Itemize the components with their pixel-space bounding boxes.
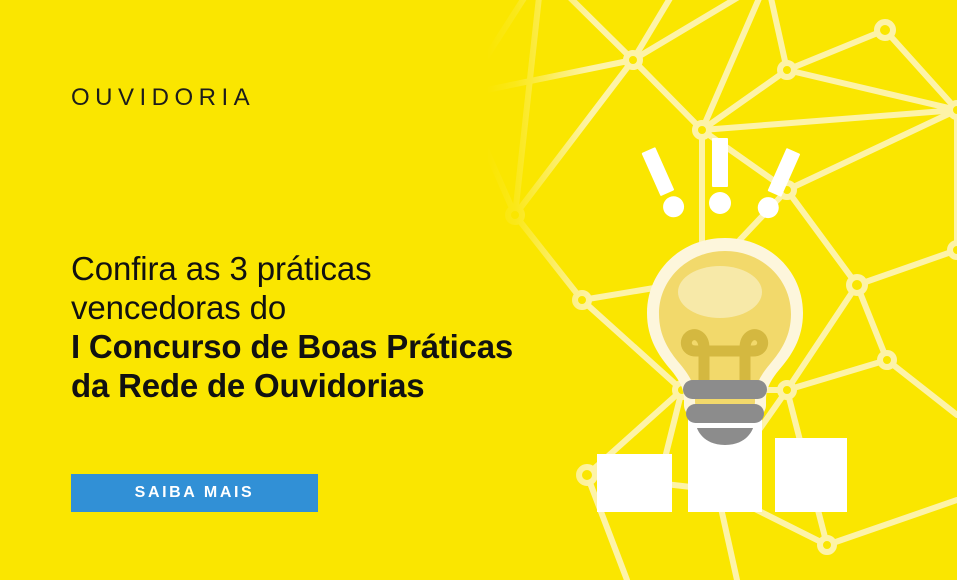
headline-line-3: I Concurso de Boas Práticas	[71, 327, 631, 366]
exclamation-left-icon	[639, 146, 688, 221]
bar-left	[597, 454, 672, 512]
saiba-mais-label: SAIBA MAIS	[135, 484, 255, 502]
headline-line-1: Confira as 3 práticas	[71, 249, 631, 288]
exclamation-marks	[639, 138, 803, 221]
headline-line-4: da Rede de Ouvidorias	[71, 366, 631, 405]
headline-block: Confira as 3 práticas vencedoras do I Co…	[71, 249, 631, 405]
bar-right	[775, 438, 847, 512]
bulb-icon	[647, 238, 803, 445]
exclamation-center-icon	[709, 138, 731, 214]
brand-eyebrow: OUVIDORIA	[71, 84, 255, 112]
saiba-mais-button[interactable]: SAIBA MAIS	[71, 474, 318, 512]
exclamation-right-icon	[754, 147, 803, 222]
bulb-highlight	[678, 266, 762, 318]
headline-line-2: vencedoras do	[71, 288, 631, 327]
ouvidoria-promo-banner: OUVIDORIA Confira as 3 práticas vencedor…	[0, 0, 957, 580]
